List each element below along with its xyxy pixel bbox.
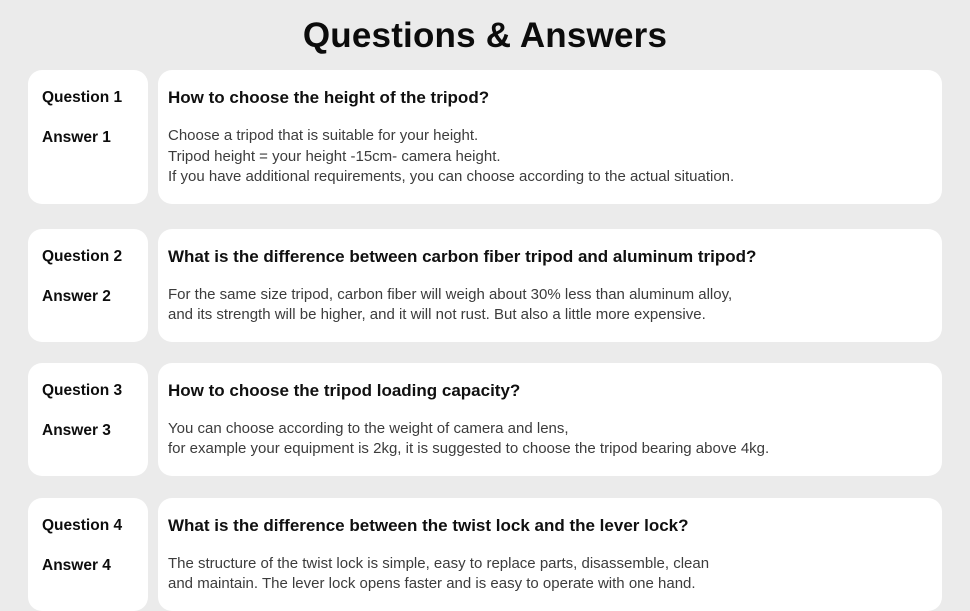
question-label: Question 4 — [28, 516, 148, 536]
question-label: Question 1 — [28, 88, 148, 108]
answer-line: The structure of the twist lock is simpl… — [168, 554, 922, 575]
qa-label-card: Question 3 Answer 3 — [28, 363, 148, 476]
qa-block: Question 2 Answer 2 What is the differen… — [28, 229, 942, 342]
question-label: Question 2 — [28, 247, 148, 267]
qa-page: Questions & Answers Question 1 Answer 1 … — [0, 0, 970, 600]
qa-label-card: Question 4 Answer 4 — [28, 498, 148, 611]
qa-block: Question 3 Answer 3 How to choose the tr… — [28, 363, 942, 476]
question-label: Question 3 — [28, 381, 148, 401]
qa-block-list: Question 1 Answer 1 How to choose the he… — [28, 70, 942, 611]
answer-label: Answer 4 — [28, 556, 148, 576]
question-text: What is the difference between carbon fi… — [168, 246, 922, 268]
answer-label: Answer 3 — [28, 421, 148, 441]
answer-line: For the same size tripod, carbon fiber w… — [168, 285, 922, 306]
qa-label-card: Question 2 Answer 2 — [28, 229, 148, 342]
qa-block: Question 4 Answer 4 What is the differen… — [28, 498, 942, 611]
answer-line: If you have additional requirements, you… — [168, 167, 922, 188]
question-text: What is the difference between the twist… — [168, 515, 922, 537]
answer-label: Answer 2 — [28, 287, 148, 307]
answer-text: You can choose according to the weight o… — [168, 419, 922, 460]
answer-line: Tripod height = your height -15cm- camer… — [168, 147, 922, 168]
answer-line: for example your equipment is 2kg, it is… — [168, 439, 922, 460]
answer-line: and maintain. The lever lock opens faste… — [168, 574, 922, 595]
qa-content-card: How to choose the tripod loading capacit… — [158, 363, 942, 476]
answer-line: You can choose according to the weight o… — [168, 419, 922, 440]
answer-text: For the same size tripod, carbon fiber w… — [168, 285, 922, 326]
answer-line: Choose a tripod that is suitable for you… — [168, 126, 922, 147]
answer-label: Answer 1 — [28, 128, 148, 148]
qa-block: Question 1 Answer 1 How to choose the he… — [28, 70, 942, 204]
question-text: How to choose the height of the tripod? — [168, 87, 922, 109]
answer-text: The structure of the twist lock is simpl… — [168, 554, 922, 595]
qa-content-card: What is the difference between carbon fi… — [158, 229, 942, 342]
qa-label-card: Question 1 Answer 1 — [28, 70, 148, 204]
qa-content-card: What is the difference between the twist… — [158, 498, 942, 611]
qa-content-card: How to choose the height of the tripod? … — [158, 70, 942, 204]
answer-text: Choose a tripod that is suitable for you… — [168, 126, 922, 188]
page-title: Questions & Answers — [0, 14, 970, 58]
question-text: How to choose the tripod loading capacit… — [168, 380, 922, 402]
answer-line: and its strength will be higher, and it … — [168, 305, 922, 326]
